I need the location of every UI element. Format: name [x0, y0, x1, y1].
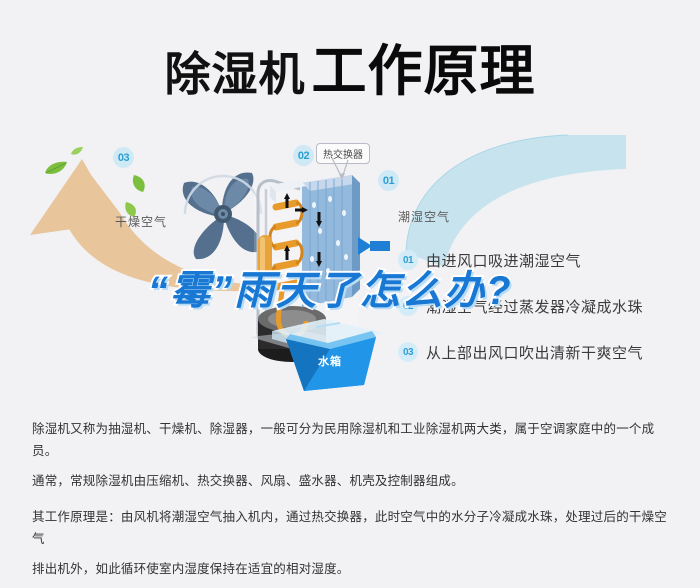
body-paragraph-1: 除湿机又称为抽湿机、干燥机、除湿器，一般可分为民用除湿机和工业除湿机两大类，属于… — [32, 418, 672, 462]
dry-air-label: 干燥空气 — [115, 213, 167, 230]
diagram-badge-moist-air: 01 — [378, 170, 399, 191]
list-item: 03 从上部出风口吹出清新干爽空气 — [398, 337, 698, 367]
page-title-part2: 工作原理 — [311, 40, 535, 102]
body-paragraph-2: 通常，常规除湿机由压缩机、热交换器、风扇、盛水器、机壳及控制器组成。 — [32, 470, 672, 492]
page-title-part1: 除湿机 — [164, 48, 305, 100]
leaf-icon — [44, 161, 68, 177]
water-tank-label: 水箱 — [318, 353, 342, 369]
overlay-headline: “霉”雨天了怎么办? — [148, 258, 512, 316]
body-paragraph-4: 排出机外，如此循环使室内湿度保持在适宜的相对湿度。 — [32, 558, 672, 580]
step-text: 从上部出风口吹出清新干爽空气 — [426, 342, 643, 363]
leaf-icon — [71, 147, 83, 156]
leaf-icon — [131, 174, 147, 193]
moist-air-label: 潮湿空气 — [398, 208, 450, 225]
callout-pointer-icon — [330, 158, 352, 182]
diagram-badge-heat-exchanger: 02 — [293, 145, 314, 166]
page-title: 除湿机工作原理 — [0, 26, 700, 106]
diagram-badge-dry-air: 03 — [113, 147, 134, 168]
air-inlet-arrow-icon — [358, 237, 390, 255]
body-paragraph-3: 其工作原理是：由风机将潮湿空气抽入机内，通过热交换器，此时空气中的水分子冷凝成水… — [32, 506, 672, 550]
step-number: 03 — [398, 342, 418, 362]
infographic-page: 除湿机工作原理 — [0, 0, 700, 566]
body-copy: 除湿机又称为抽湿机、干燥机、除湿器，一般可分为民用除湿机和工业除湿机两大类，属于… — [32, 418, 672, 588]
